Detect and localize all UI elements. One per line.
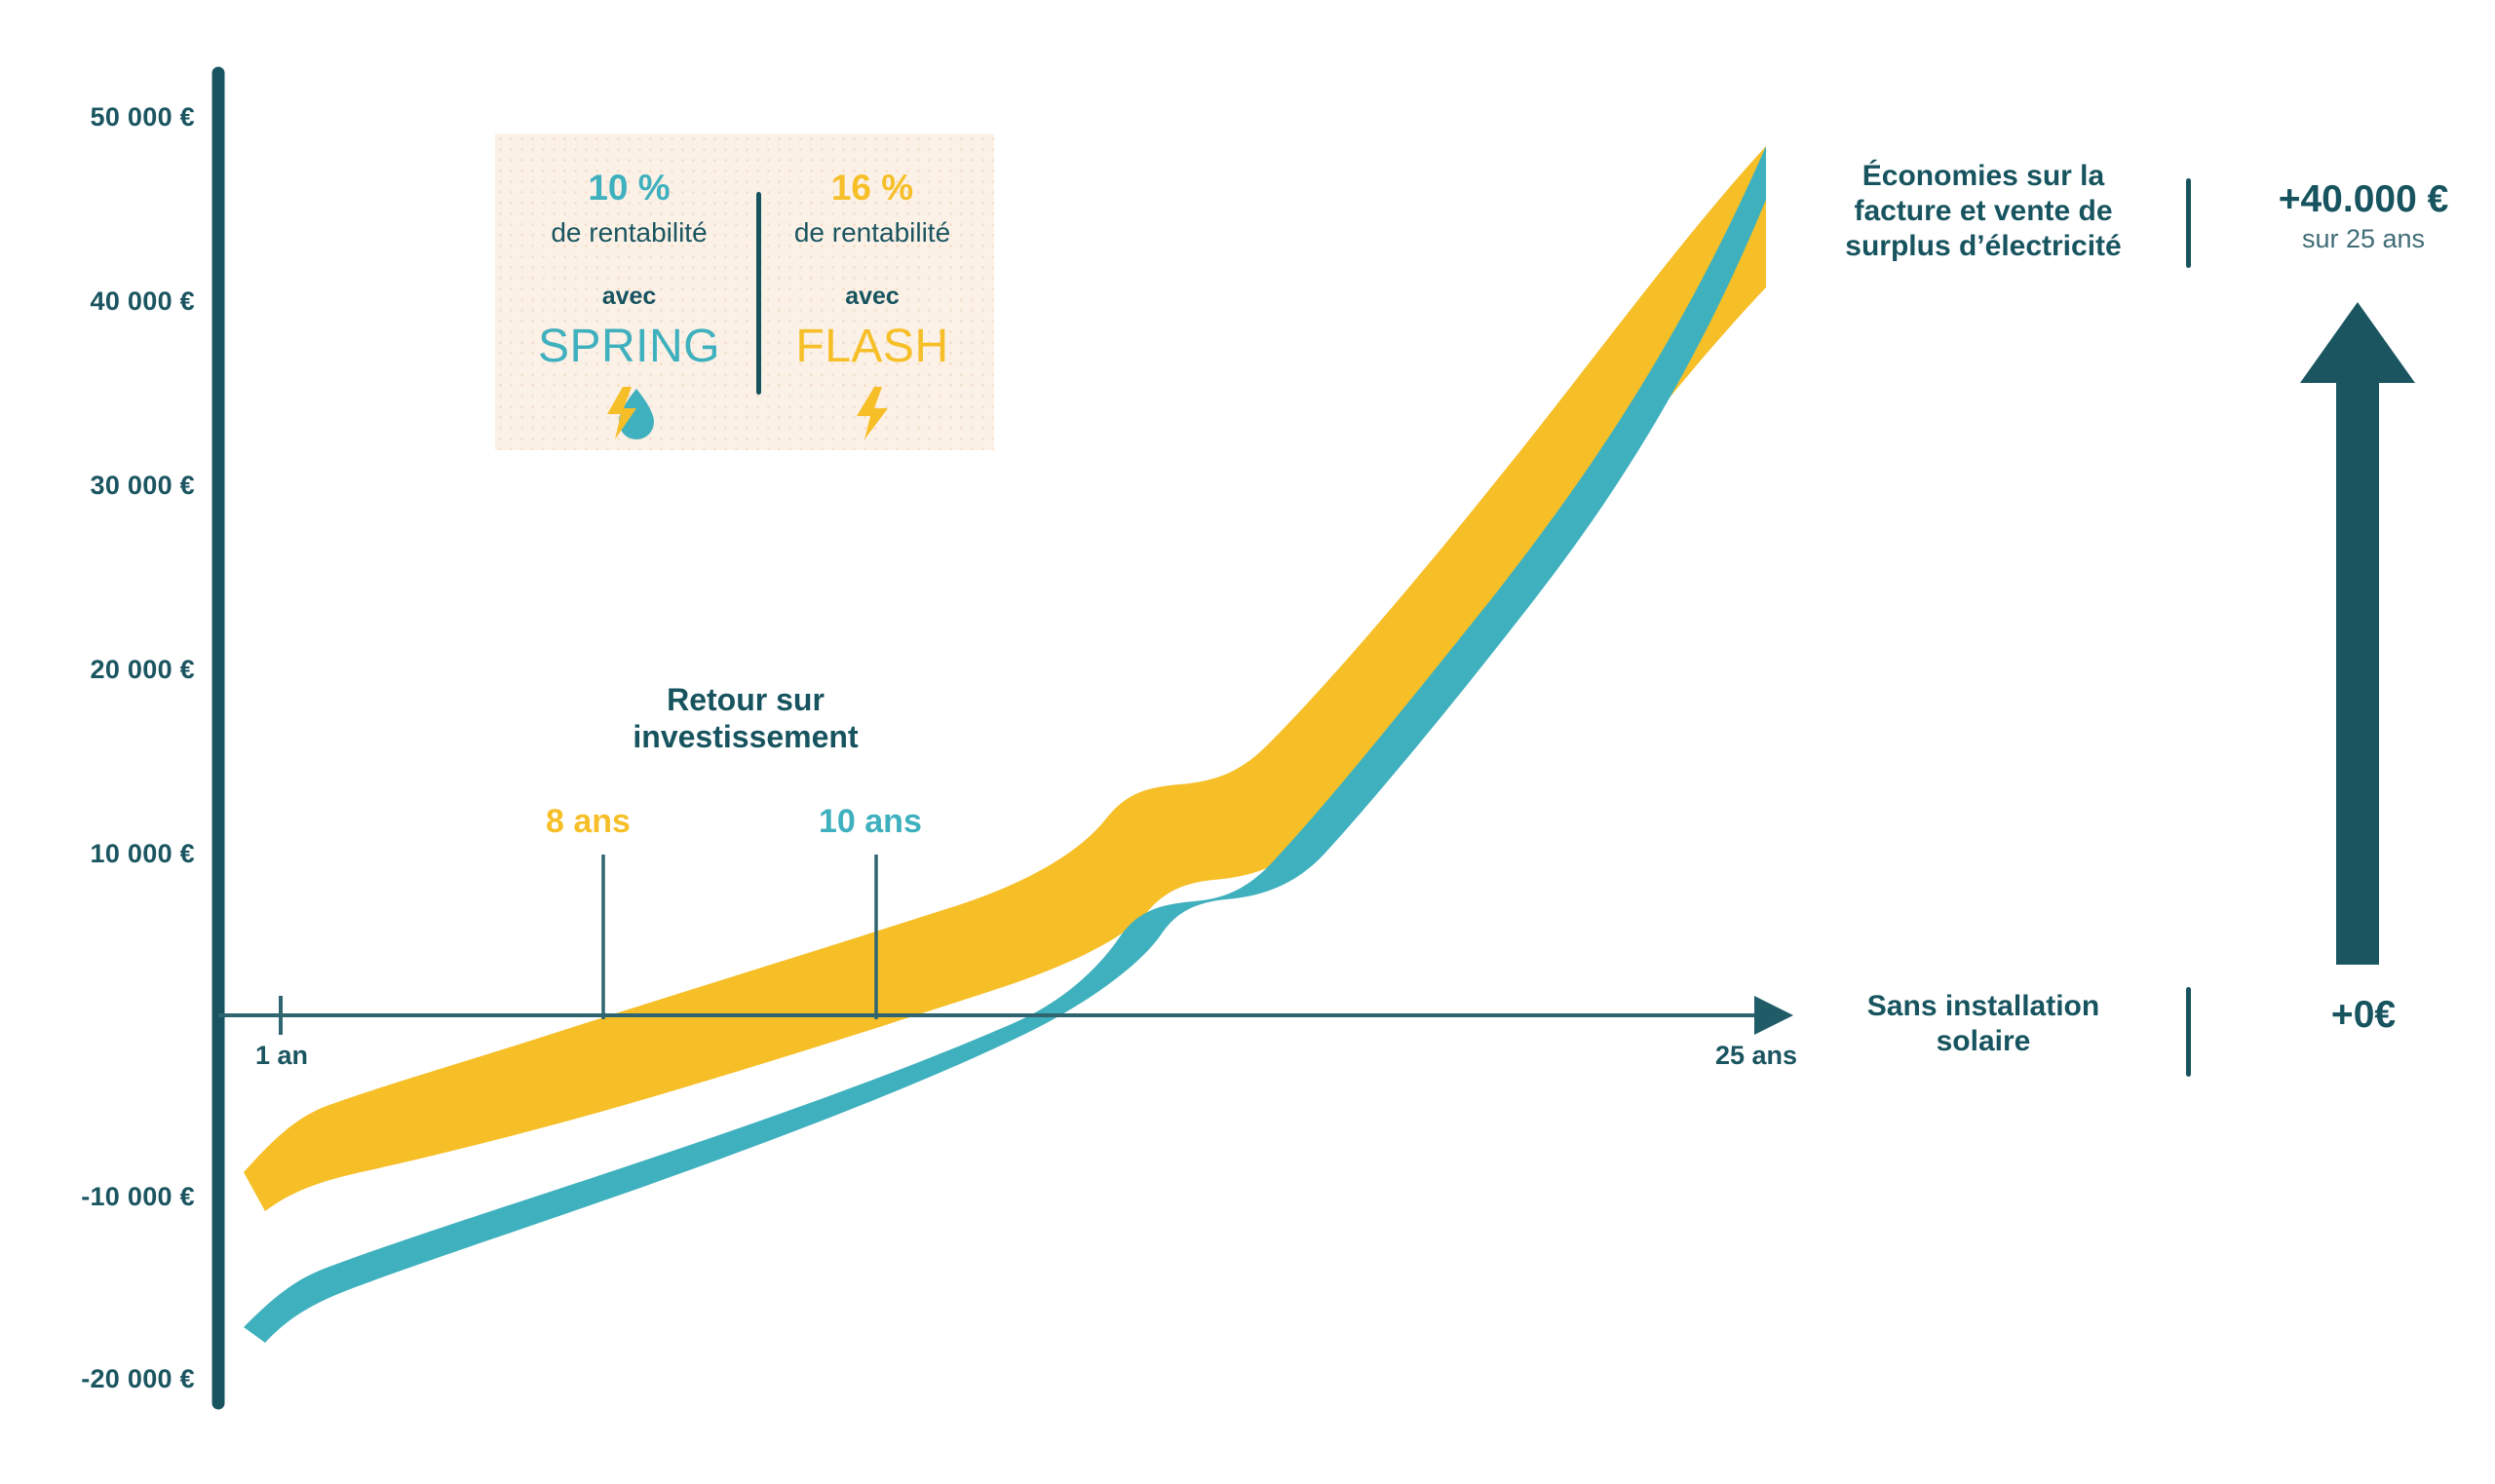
series-band-spring: [244, 146, 1766, 1343]
legend-column-spring: 10 % de rentabilité avec SPRING: [515, 133, 744, 450]
y-tick-label: 30 000 €: [10, 471, 195, 501]
legend-spring-percent: 10 %: [515, 170, 744, 206]
y-tick-label: -20 000 €: [10, 1364, 195, 1394]
legend-flash-product-name: FLASH: [770, 323, 975, 370]
y-tick-label: 50 000 €: [10, 102, 195, 133]
legend-spring-product-name: SPRING: [515, 323, 744, 370]
roi-year-spring: 10 ans: [819, 805, 922, 838]
no-solar-description-label: Sans installation solaire: [1837, 989, 2130, 1059]
x-tick-label-end: 25 ans: [1715, 1041, 1797, 1071]
roi-title: Retour sur investissement: [585, 682, 906, 756]
savings-value: +40.000 €: [2242, 180, 2485, 218]
savings-description-label: Économies sur la facture et vente de sur…: [1837, 159, 2130, 264]
savings-up-arrow-icon: [2300, 302, 2415, 965]
roi-title-line1: Retour sur: [585, 682, 906, 719]
legend-flash-avec: avec: [770, 285, 975, 309]
y-tick-label: 40 000 €: [10, 286, 195, 317]
y-tick-label: 10 000 €: [10, 839, 195, 869]
x-axis-arrowhead: [1754, 996, 1793, 1035]
bolt-droplet-icon: [515, 385, 744, 443]
x-tick-label-start: 1 an: [255, 1041, 308, 1071]
no-solar-separator: [2186, 987, 2191, 1077]
series-band-flash: [244, 146, 1766, 1211]
legend-spring-avec: avec: [515, 285, 744, 309]
savings-period-label: sur 25 ans: [2242, 226, 2485, 252]
legend-flash-percent: 16 %: [770, 170, 975, 206]
savings-separator: [2186, 178, 2191, 268]
roi-year-flash: 8 ans: [546, 805, 631, 838]
legend-spring-subtitle: de rentabilité: [515, 219, 744, 247]
y-tick-label: 20 000 €: [10, 655, 195, 685]
legend-column-flash: 16 % de rentabilité avec FLASH: [770, 133, 975, 450]
y-tick-label: -10 000 €: [10, 1182, 195, 1212]
bolt-icon: [770, 385, 975, 443]
roi-title-line2: investissement: [585, 719, 906, 756]
legend-flash-subtitle: de rentabilité: [770, 219, 975, 247]
no-solar-value: +0€: [2242, 996, 2485, 1034]
legend-divider: [756, 192, 761, 395]
profitability-legend-card: 10 % de rentabilité avec SPRING 16 % de …: [495, 133, 994, 450]
chart-canvas: 50 000 € 40 000 € 30 000 € 20 000 € 10 0…: [0, 0, 2495, 1484]
